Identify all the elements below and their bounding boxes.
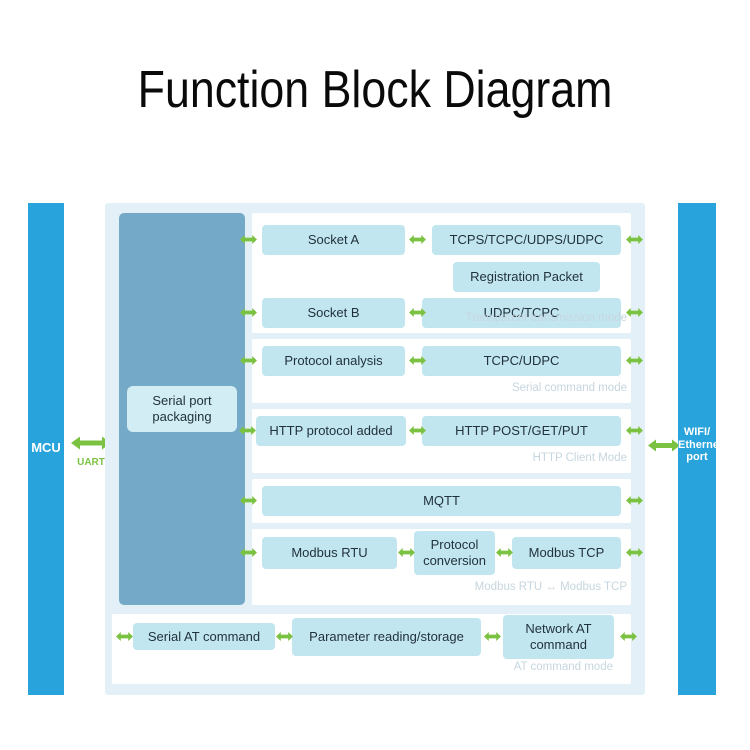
block-serial-port-packaging[interactable]: Serial port packaging	[127, 386, 237, 432]
caption-modbus: Modbus RTU ↔ Modbus TCP	[475, 581, 627, 593]
block-protocol-conversion[interactable]: Protocol conversion	[414, 531, 495, 575]
double-arrow-horizontal-icon	[409, 307, 426, 318]
block-modbus-rtu[interactable]: Modbus RTU	[262, 537, 397, 569]
block-socket-a[interactable]: Socket A	[262, 225, 405, 255]
block-http-post-get-put[interactable]: HTTP POST/GET/PUT	[422, 416, 621, 446]
block-label-line1: Serial port	[152, 393, 211, 409]
double-arrow-horizontal-icon	[240, 234, 257, 245]
network-port-label: WIFI/ Ethernet port	[678, 426, 716, 464]
double-arrow-horizontal-icon	[496, 547, 513, 558]
block-protocol-analysis[interactable]: Protocol analysis	[262, 346, 405, 376]
block-label-line1: Protocol	[423, 537, 486, 553]
group-modbus: Modbus RTU Protocol conversion Modbus TC…	[252, 529, 631, 605]
double-arrow-horizontal-icon	[626, 355, 643, 366]
network-port-label-line2: Ethernet	[678, 439, 716, 452]
group-mqtt: MQTT	[252, 479, 631, 523]
double-arrow-horizontal-icon	[240, 495, 257, 506]
double-arrow-horizontal-icon	[626, 307, 643, 318]
caption-http-client: HTTP Client Mode	[533, 452, 627, 464]
double-arrow-horizontal-icon	[484, 631, 501, 642]
double-arrow-horizontal-icon	[626, 547, 643, 558]
double-arrow-horizontal-icon	[626, 425, 643, 436]
double-arrow-horizontal-icon	[276, 631, 293, 642]
double-arrow-horizontal-icon	[240, 307, 257, 318]
block-label-line2: command	[525, 637, 591, 653]
double-arrow-horizontal-icon	[116, 631, 133, 642]
network-port-label-line3: port	[678, 451, 716, 464]
mcu-label: MCU	[31, 441, 61, 456]
block-registration-packet[interactable]: Registration Packet	[453, 262, 600, 292]
mcu-port-bar: MCU	[28, 203, 64, 695]
caption-serial-command: Serial command mode	[512, 382, 627, 394]
block-http-protocol-added[interactable]: HTTP protocol added	[256, 416, 406, 446]
block-tcpc-udpc[interactable]: TCPC/UDPC	[422, 346, 621, 376]
caption-at-command: AT command mode	[514, 661, 613, 673]
group-at-command: Serial AT command Parameter reading/stor…	[112, 614, 631, 684]
block-network-at-command[interactable]: Network AT command	[503, 615, 614, 659]
block-tcps-tcpc-udps-udpc[interactable]: TCPS/TCPC/UDPS/UDPC	[432, 225, 621, 255]
network-port-bar: WIFI/ Ethernet port	[678, 203, 716, 695]
block-modbus-tcp[interactable]: Modbus TCP	[512, 537, 621, 569]
block-label-line1: Network AT	[525, 621, 591, 637]
function-block-container: Serial port packaging Socket A TCPS/TCPC…	[105, 203, 645, 695]
serial-port-column: Serial port packaging	[119, 213, 245, 605]
block-parameter-reading-storage[interactable]: Parameter reading/storage	[292, 618, 481, 656]
network-port-label-line1: WIFI/	[678, 426, 716, 439]
caption-transparent-transmission: Transparent transmission mode	[466, 312, 627, 324]
double-arrow-horizontal-icon	[648, 438, 680, 458]
group-transparent-transmission: Socket A TCPS/TCPC/UDPS/UDPC Registratio…	[252, 213, 631, 333]
group-serial-command: Protocol analysis TCPC/UDPC Serial comma…	[252, 339, 631, 403]
double-arrow-horizontal-icon	[240, 547, 257, 558]
double-arrow-horizontal-icon	[239, 425, 256, 436]
page-title: Function Block Diagram	[53, 58, 698, 122]
double-arrow-horizontal-icon	[409, 234, 426, 245]
group-http-client: HTTP protocol added HTTP POST/GET/PUT HT…	[252, 409, 631, 473]
block-mqtt[interactable]: MQTT	[262, 486, 621, 516]
block-label-line2: packaging	[152, 409, 211, 425]
double-arrow-horizontal-icon	[409, 425, 426, 436]
block-label-line2: conversion	[423, 553, 486, 569]
double-arrow-horizontal-icon	[409, 355, 426, 366]
double-arrow-horizontal-icon	[398, 547, 415, 558]
double-arrow-horizontal-icon	[626, 495, 643, 506]
block-socket-b[interactable]: Socket B	[262, 298, 405, 328]
double-arrow-horizontal-icon	[240, 355, 257, 366]
block-serial-at-command[interactable]: Serial AT command	[133, 623, 275, 650]
double-arrow-horizontal-icon	[620, 631, 637, 642]
double-arrow-horizontal-icon	[626, 234, 643, 245]
